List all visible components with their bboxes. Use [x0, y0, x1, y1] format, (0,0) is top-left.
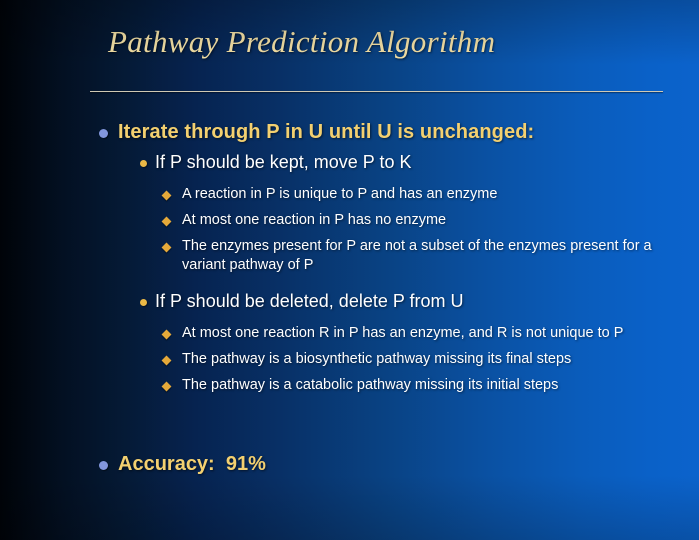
bullet-text: At most one reaction R in P has an enzym… — [182, 324, 681, 343]
spacer — [0, 280, 699, 290]
bullet-text: If P should be kept, move P to K — [155, 151, 699, 174]
bullet-item-level3: A reaction in P is unique to P and has a… — [0, 185, 699, 206]
round-bullet-icon — [99, 129, 108, 138]
round-bullet-icon — [140, 160, 147, 167]
diamond-bullet-icon — [162, 330, 172, 340]
diamond-bullet-icon — [162, 243, 172, 253]
accuracy-item: Accuracy: 91% — [0, 452, 699, 477]
bullet-text: The pathway is a biosynthetic pathway mi… — [182, 350, 681, 369]
bullet-text: The enzymes present for P are not a subs… — [182, 237, 681, 275]
bullet-item-level1: Iterate through P in U until U is unchan… — [0, 120, 699, 146]
bullet-text: A reaction in P is unique to P and has a… — [182, 185, 681, 204]
bullet-text: The pathway is a catabolic pathway missi… — [182, 376, 681, 395]
diamond-bullet-icon — [162, 217, 172, 227]
bullet-text: Iterate through P in U until U is unchan… — [118, 120, 699, 145]
diamond-bullet-icon — [162, 356, 172, 366]
slide-body: Iterate through P in U until U is unchan… — [0, 120, 699, 402]
bullet-item-level3: The pathway is a catabolic pathway missi… — [0, 376, 699, 397]
slide-title: Pathway Prediction Algorithm — [108, 24, 495, 60]
accuracy-text: Accuracy: 91% — [118, 453, 266, 475]
slide-canvas: Pathway Prediction Algorithm Iterate thr… — [0, 0, 699, 540]
bullet-item-level2: If P should be deleted, delete P from U — [0, 290, 699, 314]
bullet-text: At most one reaction in P has no enzyme — [182, 211, 681, 230]
bullet-item-level3: The enzymes present for P are not a subs… — [0, 237, 699, 275]
bullet-text: If P should be deleted, delete P from U — [155, 290, 699, 313]
round-bullet-icon — [140, 299, 147, 306]
title-divider-rule — [90, 91, 663, 92]
bullet-item-level2: If P should be kept, move P to K — [0, 151, 699, 175]
round-bullet-icon — [99, 461, 108, 470]
bullet-item-level3: At most one reaction R in P has an enzym… — [0, 324, 699, 345]
diamond-bullet-icon — [162, 191, 172, 201]
diamond-bullet-icon — [162, 382, 172, 392]
bullet-item-level3: At most one reaction in P has no enzyme — [0, 211, 699, 232]
bullet-item-level3: The pathway is a biosynthetic pathway mi… — [0, 350, 699, 371]
